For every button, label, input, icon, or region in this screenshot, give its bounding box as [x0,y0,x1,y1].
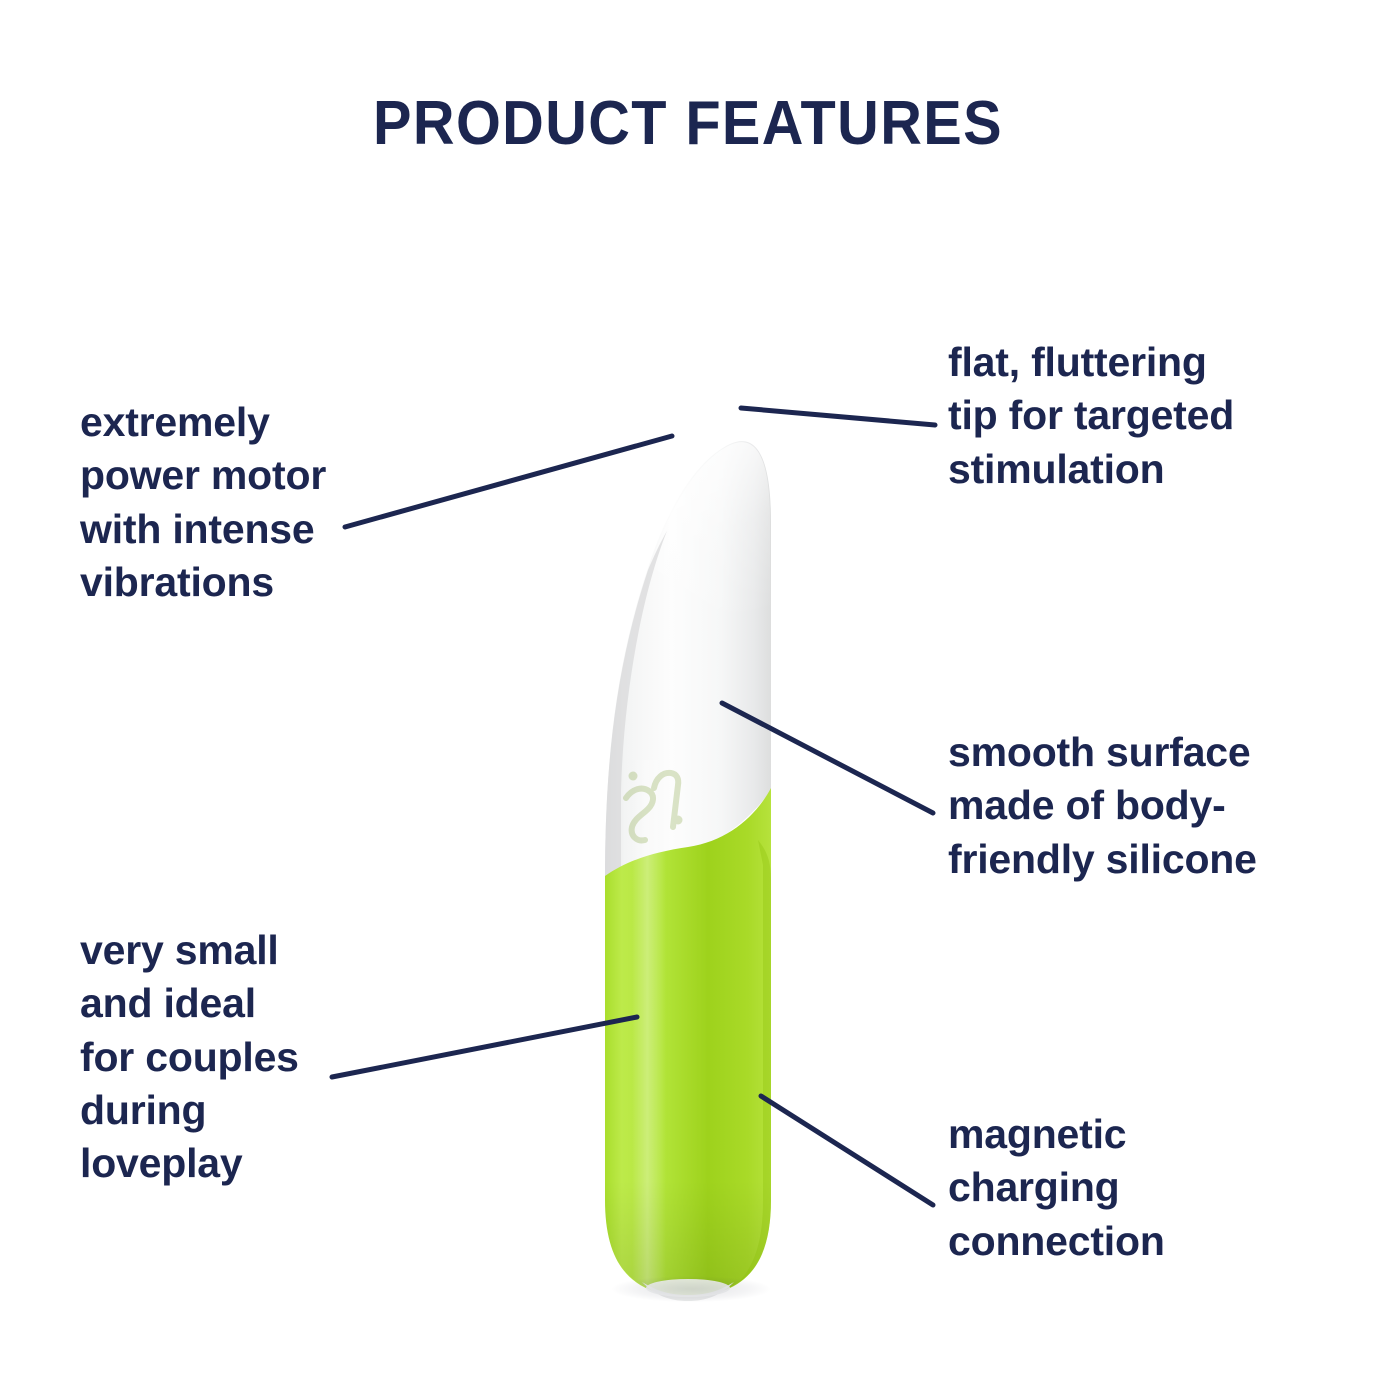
callout-line: connection [948,1215,1248,1268]
callout-line: tip for targeted [948,389,1328,442]
callout-line: charging [948,1161,1248,1214]
callout-line: magnetic [948,1108,1248,1161]
callout-line: power motor [80,449,410,502]
callout-flat-fluttering-tip: flat, fluttering tip for targeted stimul… [948,336,1328,496]
callout-line: vibrations [80,556,410,609]
callout-line: loveplay [80,1137,390,1190]
page-title: PRODUCT FEATURES [48,88,1328,159]
callout-magnetic-charging: magnetic charging connection [948,1108,1248,1268]
callout-line: made of body- [948,779,1338,832]
callout-line: and ideal [80,977,390,1030]
callout-line: with intense [80,503,410,556]
product-drop-shadow [612,1276,770,1302]
callout-line: during [80,1084,390,1137]
callout-very-small-for-couples: very small and ideal for couples during … [80,924,390,1190]
callout-extremely-power-motor: extremely power motor with intense vibra… [80,396,410,609]
callout-line: friendly silicone [948,833,1338,886]
callout-line: extremely [80,396,410,449]
callout-line: for couples [80,1031,390,1084]
product-features-infographic: PRODUCT FEATURES [0,0,1376,1376]
callout-line: smooth surface [948,726,1338,779]
callout-line: very small [80,924,390,977]
callout-smooth-surface-silicone: smooth surface made of body- friendly si… [948,726,1338,886]
product-illustration [588,320,788,1320]
callout-line: flat, fluttering [948,336,1328,389]
callout-line: stimulation [948,443,1328,496]
product-tip-white [605,441,771,880]
